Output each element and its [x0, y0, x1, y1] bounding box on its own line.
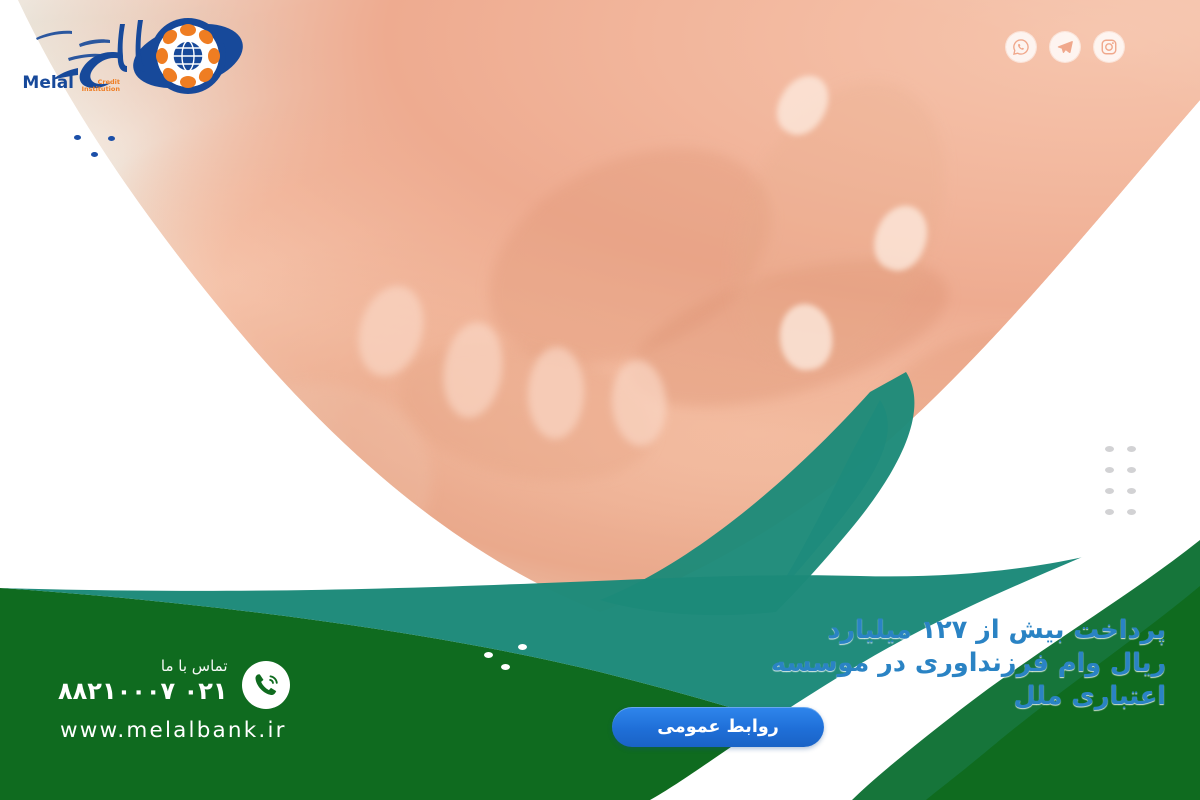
phone-badge [242, 661, 290, 709]
website-url[interactable]: www.melalbank.ir [60, 718, 287, 743]
whatsapp-icon [1012, 38, 1030, 56]
headline-line-2: ریال وام فرزنداوری در موسسه [646, 647, 1166, 680]
decorative-dots-white [484, 644, 530, 684]
headline-line-1: پرداخت بیش از ۱۲۷ میلیارد [646, 614, 1166, 647]
social-link-telegram[interactable] [1050, 32, 1080, 62]
svg-text:Institution: Institution [82, 85, 121, 93]
decorative-dots-blue [74, 130, 120, 170]
public-relations-button[interactable]: روابط عمومی [612, 707, 824, 747]
contact-phone-number[interactable]: ۰۲۱ ۸۸۲۱۰۰۰۷ [58, 678, 228, 706]
globe-flower-logo-mark [126, 13, 248, 98]
phone-call-icon [251, 670, 281, 700]
social-links [1006, 32, 1124, 62]
melal-logo[interactable]: Melal Credit Institution [16, 8, 248, 108]
melal-logo-artwork: Melal Credit Institution [16, 8, 248, 108]
instagram-icon [1100, 38, 1118, 56]
social-link-whatsapp[interactable] [1006, 32, 1036, 62]
social-link-instagram[interactable] [1094, 32, 1124, 62]
svg-text:Melal: Melal [22, 73, 74, 93]
contact-text: تماس با ما ۰۲۱ ۸۸۲۱۰۰۰۷ [58, 658, 228, 705]
logo-persian-subtext [36, 31, 110, 61]
contact-block: تماس با ما ۰۲۱ ۸۸۲۱۰۰۰۷ [58, 658, 290, 709]
decorative-dot-grid [1092, 446, 1136, 530]
telegram-icon [1056, 38, 1074, 56]
poster-canvas: Melal Credit Institution [0, 0, 1200, 800]
headline: پرداخت بیش از ۱۲۷ میلیارد ریال وام فرزند… [646, 614, 1166, 713]
contact-label: تماس با ما [58, 658, 228, 675]
